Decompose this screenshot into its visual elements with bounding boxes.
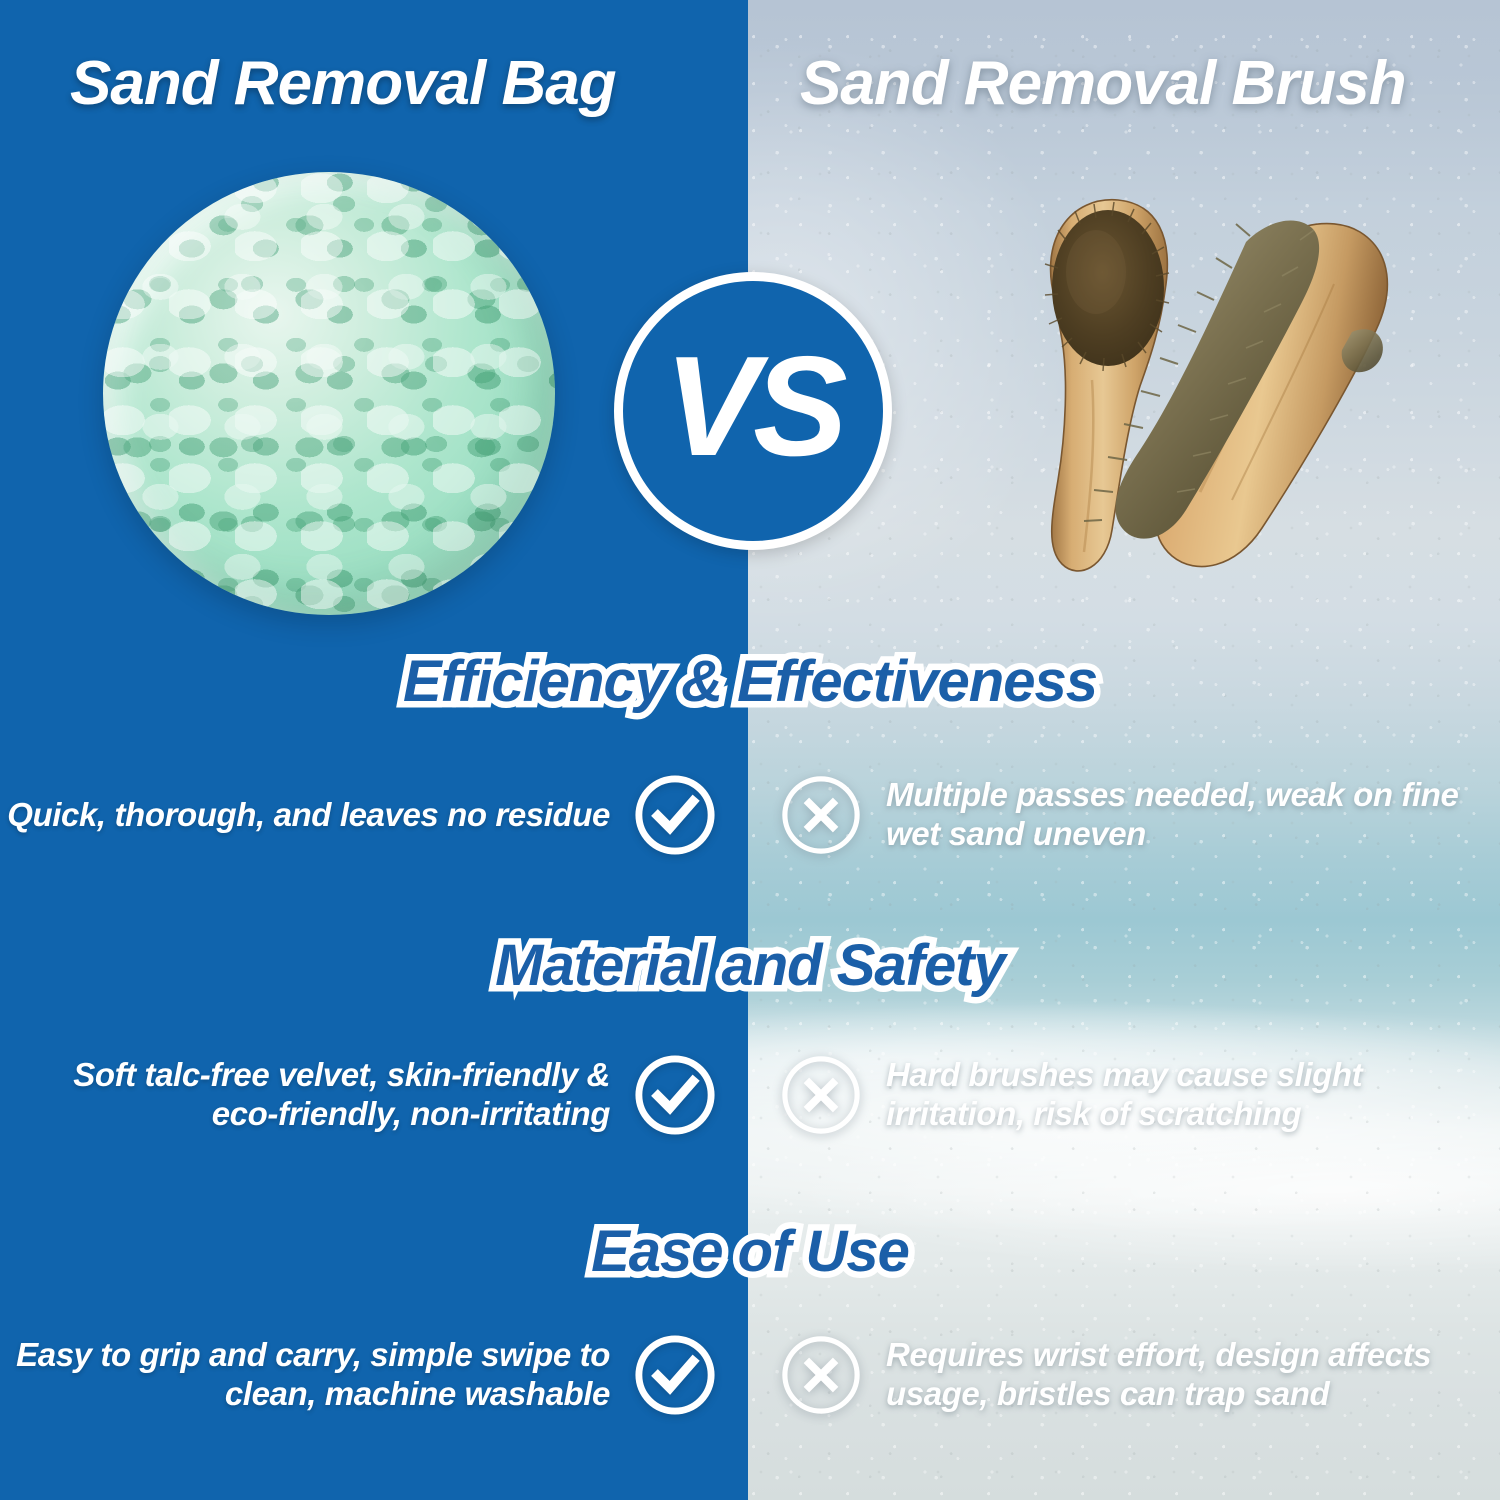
right-product-title: Sand Removal Brush [800, 48, 1406, 119]
check-circle-icon [632, 1332, 718, 1418]
row-ease-left-text: Easy to grip and carry, simple swipe to … [0, 1336, 610, 1414]
row-material-right: Hard brushes may cause slight irritation… [748, 1052, 1500, 1138]
cross-circle-icon [778, 1052, 864, 1138]
comparison-row-efficiency: Quick, thorough, and leaves no residue M… [0, 772, 1500, 858]
row-material-left-text: Soft talc-free velvet, skin-friendly & e… [0, 1056, 610, 1134]
row-ease-right-text: Requires wrist effort, design affects us… [886, 1336, 1500, 1414]
row-material-left: Soft talc-free velvet, skin-friendly & e… [0, 1052, 748, 1138]
row-efficiency-left-text: Quick, thorough, and leaves no residue [7, 796, 610, 835]
comparison-infographic: Sand Removal Bag Sand Removal Brush [0, 0, 1500, 1500]
check-circle-icon [632, 772, 718, 858]
check-circle-icon [632, 1052, 718, 1138]
row-efficiency-left: Quick, thorough, and leaves no residue [0, 772, 748, 858]
comparison-row-ease-of-use: Easy to grip and carry, simple swipe to … [0, 1332, 1500, 1418]
cross-circle-icon [778, 772, 864, 858]
vs-label: VS [664, 336, 841, 478]
sand-removal-brush-image [1000, 180, 1420, 600]
comparison-row-material: Soft talc-free velvet, skin-friendly & e… [0, 1052, 1500, 1138]
row-ease-right: Requires wrist effort, design affects us… [748, 1332, 1500, 1418]
cross-circle-icon [778, 1332, 864, 1418]
vs-badge: VS [614, 272, 892, 550]
section-heading-material: Material and Safety [0, 932, 1500, 999]
row-efficiency-right: Multiple passes needed, weak on fine wet… [748, 772, 1500, 858]
left-product-title: Sand Removal Bag [70, 48, 616, 119]
row-ease-left: Easy to grip and carry, simple swipe to … [0, 1332, 748, 1418]
row-efficiency-right-text: Multiple passes needed, weak on fine wet… [886, 776, 1500, 854]
sand-removal-bag-image [103, 172, 555, 615]
section-heading-efficiency: Efficiency & Effectiveness [0, 648, 1500, 715]
section-heading-ease-of-use: Ease of Use [0, 1218, 1500, 1285]
row-material-right-text: Hard brushes may cause slight irritation… [886, 1056, 1500, 1134]
